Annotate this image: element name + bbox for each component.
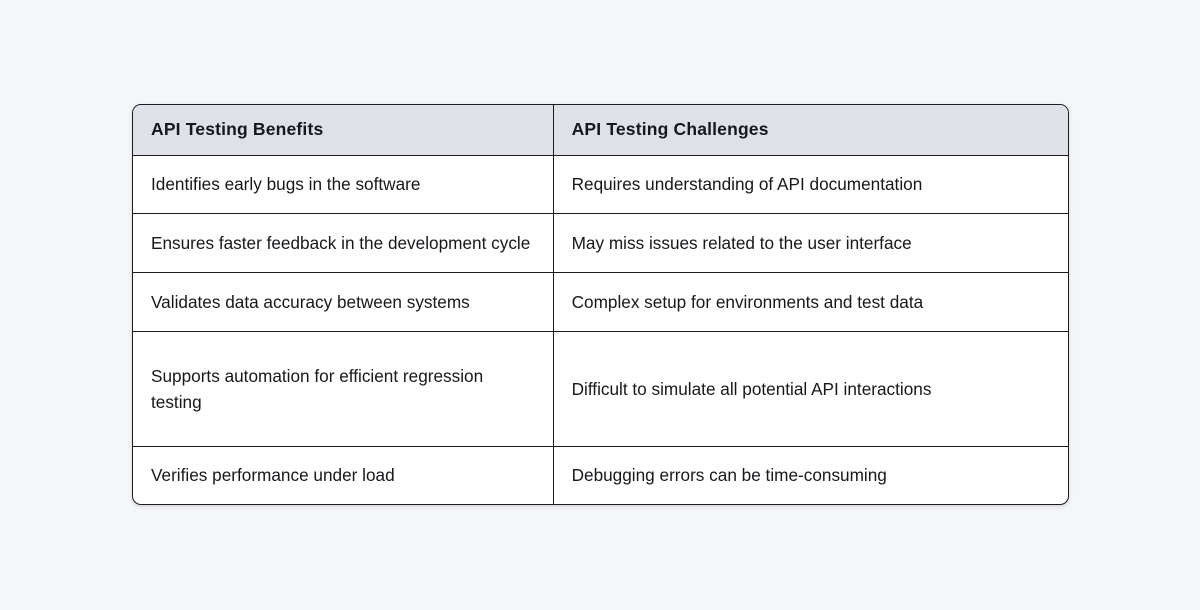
cell-text: Supports automation for efficient regres…	[151, 363, 535, 415]
cell-text: Debugging errors can be time-consuming	[572, 462, 1050, 488]
cell-benefit-4: Supports automation for efficient regres…	[133, 331, 553, 446]
column-header-benefits: API Testing Benefits	[133, 105, 553, 155]
cell-challenge-3: Complex setup for environments and test …	[553, 272, 1068, 331]
cell-benefit-3: Validates data accuracy between systems	[133, 272, 553, 331]
cell-benefit-5: Verifies performance under load	[133, 446, 553, 504]
table-row: Validates data accuracy between systems …	[133, 272, 1068, 331]
cell-text: Identifies early bugs in the software	[151, 171, 535, 197]
column-header-challenges: API Testing Challenges	[553, 105, 1068, 155]
table-row: Supports automation for efficient regres…	[133, 331, 1068, 446]
cell-benefit-1: Identifies early bugs in the software	[133, 155, 553, 214]
table-row: Ensures faster feedback in the developme…	[133, 214, 1068, 273]
cell-challenge-1: Requires understanding of API documentat…	[553, 155, 1068, 214]
page-canvas: API Testing Benefits API Testing Challen…	[0, 0, 1200, 610]
cell-text: Difficult to simulate all potential API …	[572, 376, 1050, 402]
cell-text: Requires understanding of API documentat…	[572, 171, 1050, 197]
cell-benefit-2: Ensures faster feedback in the developme…	[133, 214, 553, 273]
table-header: API Testing Benefits API Testing Challen…	[133, 105, 1068, 155]
cell-text: May miss issues related to the user inte…	[572, 230, 1050, 256]
table-row: Identifies early bugs in the software Re…	[133, 155, 1068, 214]
table-body: Identifies early bugs in the software Re…	[133, 155, 1068, 504]
comparison-table-container: API Testing Benefits API Testing Challen…	[132, 104, 1069, 505]
cell-text: Complex setup for environments and test …	[572, 289, 1050, 315]
cell-text: Validates data accuracy between systems	[151, 289, 535, 315]
cell-challenge-4: Difficult to simulate all potential API …	[553, 331, 1068, 446]
cell-text: Ensures faster feedback in the developme…	[151, 230, 535, 256]
cell-text: Verifies performance under load	[151, 462, 535, 488]
table-header-row: API Testing Benefits API Testing Challen…	[133, 105, 1068, 155]
cell-challenge-5: Debugging errors can be time-consuming	[553, 446, 1068, 504]
api-testing-comparison-table: API Testing Benefits API Testing Challen…	[133, 105, 1068, 504]
table-row: Verifies performance under load Debuggin…	[133, 446, 1068, 504]
cell-challenge-2: May miss issues related to the user inte…	[553, 214, 1068, 273]
